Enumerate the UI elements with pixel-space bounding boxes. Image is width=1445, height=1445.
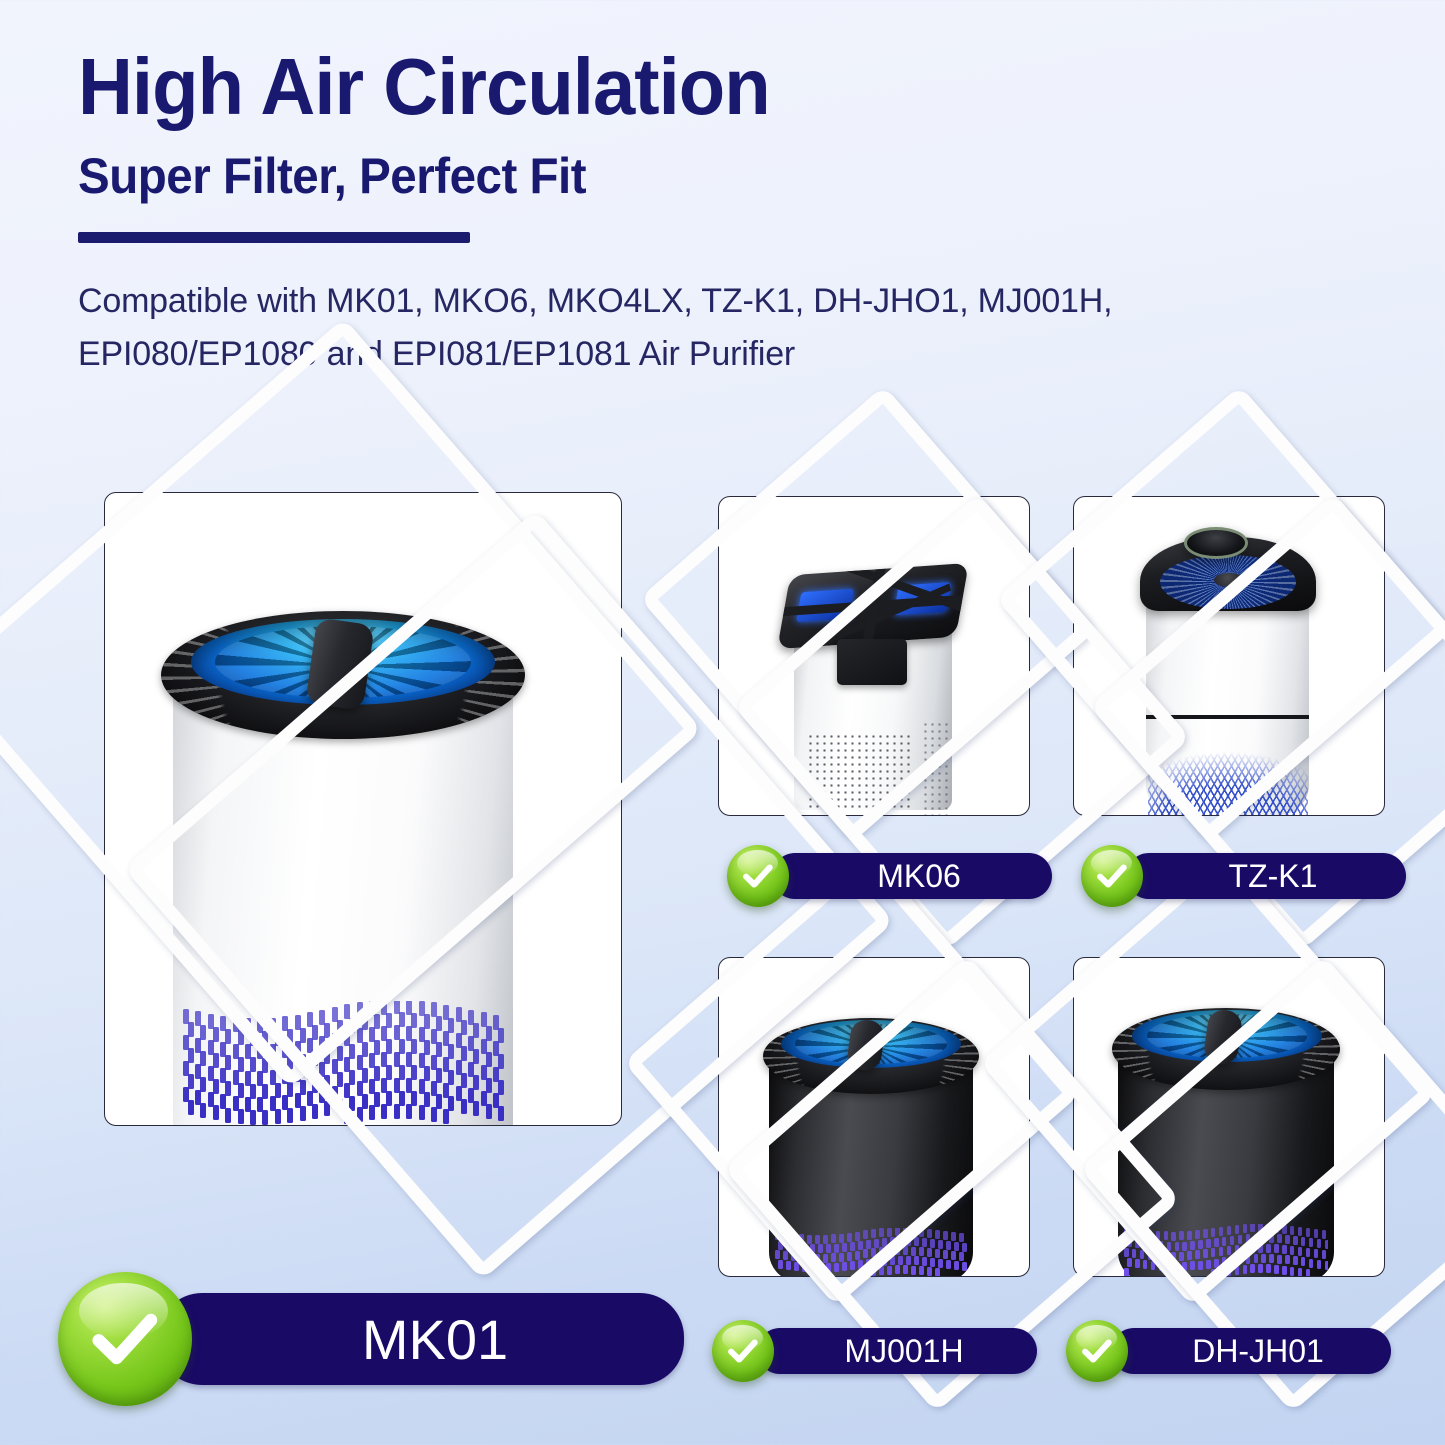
page-title: High Air Circulation [78,46,1294,128]
tzk1-seam [1146,715,1309,719]
check-circle-icon [727,845,789,907]
check-circle-icon [58,1272,192,1406]
product-photo-main [104,492,622,1126]
model-badge-label-mk06: MK06 [772,853,1052,899]
model-badge-tzk1[interactable]: TZ-K1 [1081,845,1406,907]
compatibility-text: Compatible with MK01, MKO6, MKO4LX, TZ-K… [78,275,1358,380]
product-photo-mk06 [718,496,1030,816]
product-photo-tzk1 [1073,496,1385,816]
tzk1-cube-vents [1148,743,1308,815]
mk06-top-grille [777,563,969,649]
mk06-perforated-vents [807,733,912,811]
product-photo-dhjh01 [1073,957,1385,1277]
model-badge-mk01[interactable]: MK01 [58,1272,684,1406]
mj001h-vents [775,1228,967,1277]
model-badge-label-mj001h: MJ001H [757,1328,1037,1374]
dhjh01-vents [1124,1224,1328,1277]
title-divider [78,232,470,243]
check-circle-icon [712,1320,774,1382]
mk06-front-panel [837,639,907,685]
mk06-side-vents [922,721,949,815]
compatibility-line-2: EPI080/EP1080 and EPI081/EP1081 Air Puri… [78,328,1358,381]
infographic-stage: High Air Circulation Super Filter, Perfe… [0,0,1445,1445]
main-purifier-vents [183,1001,505,1125]
model-badge-mk06[interactable]: MK06 [727,845,1052,907]
header-block: High Air Circulation Super Filter, Perfe… [78,46,1358,380]
product-photo-mj001h [718,957,1030,1277]
main-purifier-handle [305,617,374,710]
model-badge-label-tzk1: TZ-K1 [1126,853,1406,899]
model-badge-label-dhjh01: DH-JH01 [1111,1328,1391,1374]
compatibility-line-1: Compatible with MK01, MKO6, MKO4LX, TZ-K… [78,275,1358,328]
model-badge-dhjh01[interactable]: DH-JH01 [1066,1320,1391,1382]
model-badge-mj001h[interactable]: MJ001H [712,1320,1037,1382]
check-circle-icon [1081,845,1143,907]
tzk1-neck-ring [1184,527,1248,559]
check-circle-icon [1066,1320,1128,1382]
page-subtitle: Super Filter, Perfect Fit [78,150,1294,203]
model-badge-label-mk01: MK01 [158,1293,684,1385]
